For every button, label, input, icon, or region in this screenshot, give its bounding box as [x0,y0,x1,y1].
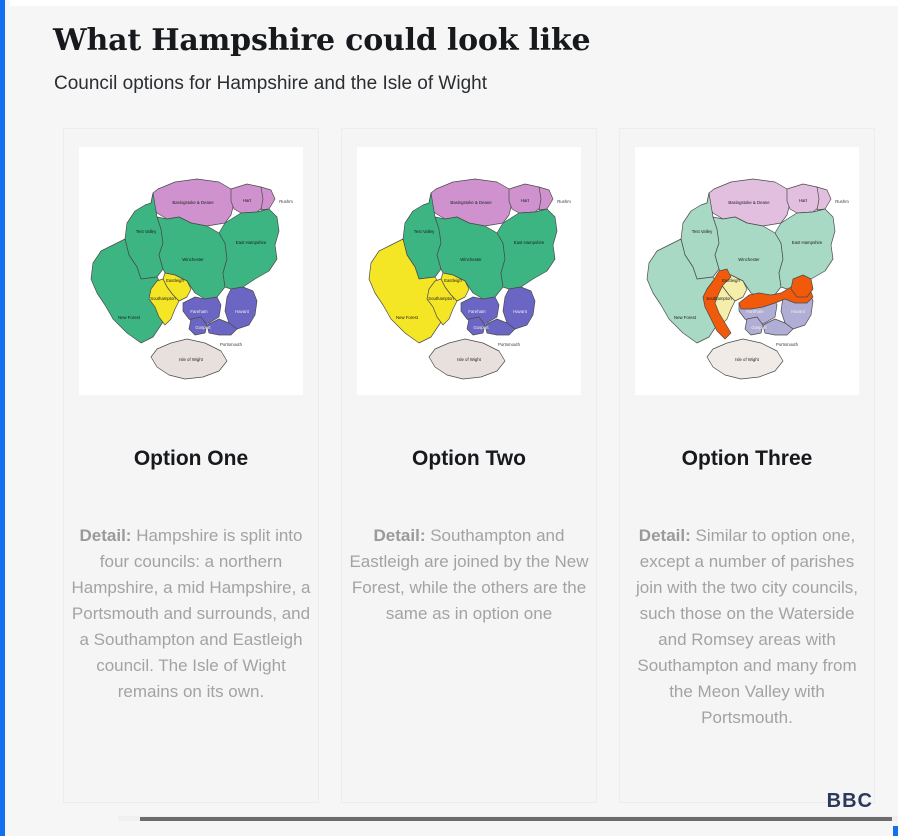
map-label-new-forest: New Forest [118,315,141,320]
option-three-detail-text: Similar to option one, except a number o… [636,526,858,727]
page-title: What Hampshire could look like [53,23,590,58]
bbc-logo: BBC [827,790,873,813]
option-two-detail: Detail: Southampton and Eastleigh are jo… [347,523,591,627]
map-label-isle-of-wight: Isle of Wight [179,357,203,362]
map-label-winchester: Winchester [460,257,482,262]
map-label-portsmouth: Portsmouth [220,342,243,347]
map-label-east-hampshire: East Hampshire [236,240,267,245]
page-subtitle: Council options for Hampshire and the Is… [54,73,487,95]
map-label-test-valley: Test Valley [692,229,713,234]
map-label-eastleigh: Eastleigh [722,278,740,283]
map-label-southampton: Southampton [706,296,732,301]
map-label-fareham: Fareham [190,309,208,314]
region-east-hampshire[interactable] [219,209,279,289]
horizontal-scrollbar-thumb[interactable] [140,817,892,821]
page-frame: What Hampshire could look like Council o… [0,0,898,836]
option-three-detail: Detail: Similar to option one, except a … [625,523,869,731]
map-label-test-valley: Test Valley [414,229,435,234]
option-card-one[interactable]: Basingstoke & Deane Hart Rushm Test Vall… [63,128,319,803]
map-label-gosport: Gosport [195,325,211,330]
map-label-portsmouth: Portsmouth [776,342,799,347]
option-two-title: Option Two [412,447,526,471]
option-card-three[interactable]: Basingstoke & Deane Hart Rushm Test Vall… [619,128,875,803]
region-havant[interactable] [225,287,257,329]
map-label-gosport: Gosport [473,325,489,330]
map-label-eastleigh: Eastleigh [166,278,184,283]
map-label-hart: Hart [799,198,808,203]
map-label-hart: Hart [243,198,252,203]
region-east-hampshire[interactable] [497,209,557,289]
map-label-basingstoke-deane: Basingstoke & Deane [728,200,770,205]
map-label-havant: Havant [513,309,527,314]
map-label-basingstoke-deane: Basingstoke & Deane [450,200,492,205]
map-label-southampton: Southampton [428,296,454,301]
region-havant[interactable] [503,287,535,329]
map-label-southampton: Southampton [150,296,176,301]
map-label-rushmoor: Rushm [835,199,849,204]
map-label-rushmoor: Rushm [557,199,571,204]
map-label-eastleigh: Eastleigh [444,278,462,283]
region-rushmoor[interactable] [261,187,275,210]
map-label-hart: Hart [521,198,530,203]
hampshire-map-option-two[interactable]: Basingstoke & Deane Hart Rushm Test Vall… [357,147,581,395]
map-label-winchester: Winchester [182,257,204,262]
map-label-basingstoke-deane: Basingstoke & Deane [172,200,214,205]
map-label-winchester: Winchester [738,257,760,262]
map-label-havant: Havant [235,309,249,314]
map-label-east-hampshire: East Hampshire [792,240,823,245]
option-one-detail-lead: Detail: [80,526,132,545]
map-label-fareham: Fareham [468,309,486,314]
option-two-detail-lead: Detail: [374,526,426,545]
map-label-new-forest: New Forest [396,315,419,320]
map-label-new-forest: New Forest [674,315,697,320]
map-label-east-hampshire: East Hampshire [514,240,545,245]
map-label-rushmoor: Rushm [279,199,293,204]
option-three-detail-lead: Detail: [639,526,691,545]
option-one-title: Option One [134,447,248,471]
region-parish-overlay-havant-east[interactable] [791,275,813,297]
map-label-portsmouth: Portsmouth [498,342,521,347]
option-three-title: Option Three [682,447,813,471]
hampshire-map-option-one[interactable]: Basingstoke & Deane Hart Rushm Test Vall… [79,147,303,395]
option-one-detail: Detail: Hampshire is split into four cou… [69,523,313,705]
region-rushmoor[interactable] [539,187,553,210]
hampshire-map-option-three[interactable]: Basingstoke & Deane Hart Rushm Test Vall… [635,147,859,395]
option-one-detail-text: Hampshire is split into four councils: a… [71,526,310,701]
map-label-havant: Havant [791,309,805,314]
option-card-two[interactable]: Basingstoke & Deane Hart Rushm Test Vall… [341,128,597,803]
map-label-isle-of-wight: Isle of Wight [735,357,759,362]
map-label-gosport: Gosport [751,325,767,330]
article-page: What Hampshire could look like Council o… [10,6,898,826]
map-label-isle-of-wight: Isle of Wight [457,357,481,362]
option-cards-container: Basingstoke & Deane Hart Rushm Test Vall… [63,128,875,803]
region-rushmoor[interactable] [817,187,831,210]
map-label-test-valley: Test Valley [136,229,157,234]
map-label-fareham: Fareham [746,309,764,314]
